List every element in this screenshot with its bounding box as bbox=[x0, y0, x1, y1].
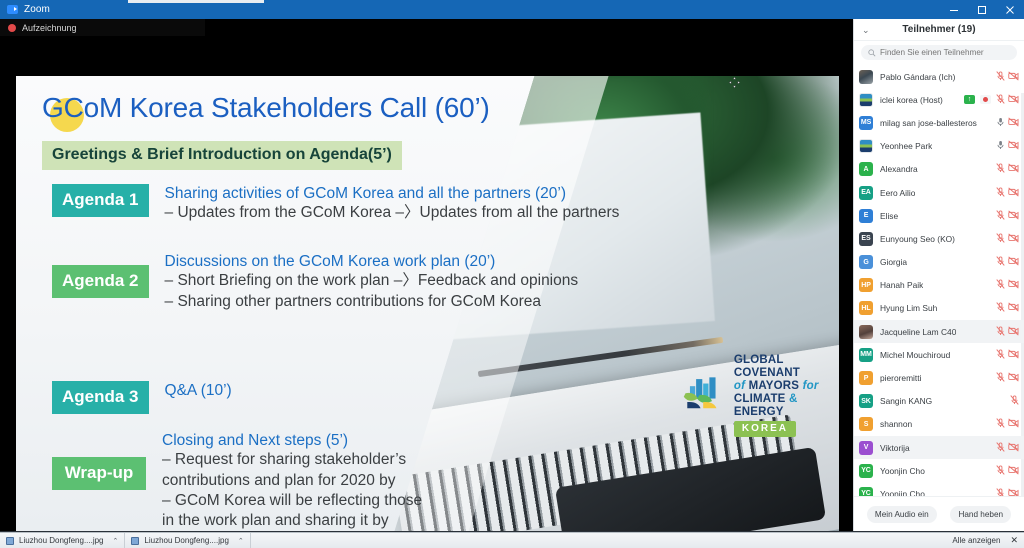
recording-label: Aufzeichnung bbox=[22, 23, 77, 33]
participant-row[interactable]: ESEunyoung Seo (KO) bbox=[854, 227, 1024, 250]
gcom-logo-amp: & bbox=[789, 393, 798, 405]
participants-search-wrap bbox=[854, 41, 1024, 65]
share-screen-badge-icon: ↑ bbox=[964, 95, 975, 104]
download-item[interactable]: Liuzhou Dongfeng....jpg ⌃ bbox=[0, 533, 125, 548]
gcom-logo-energy: ENERGY bbox=[734, 406, 784, 418]
raise-hand-button[interactable]: Hand heben bbox=[950, 506, 1011, 523]
avatar: MS bbox=[859, 116, 873, 130]
video-off-icon[interactable] bbox=[1008, 439, 1019, 457]
agenda-line-4-2: – GCoM Korea will be reflecting those bbox=[162, 491, 422, 511]
recording-indicator[interactable]: Aufzeichnung bbox=[0, 19, 205, 36]
agenda-row-3: Agenda 3 Q&A (10’) bbox=[52, 381, 232, 414]
agenda-line-1-0: – Updates from the GCoM Korea –〉Updates … bbox=[165, 203, 620, 223]
agenda-head-3: Q&A (10’) bbox=[165, 381, 232, 400]
gcom-logo-line3: CLIMATE & ENERGY bbox=[734, 393, 839, 419]
participant-name: Jacqueline Lam C40 bbox=[880, 327, 956, 337]
slide-greeting-banner: Greetings & Brief Introduction on Agenda… bbox=[42, 141, 402, 170]
microphone-muted-icon[interactable] bbox=[996, 91, 1005, 109]
maximize-icon[interactable] bbox=[968, 0, 996, 19]
avatar: E bbox=[859, 209, 873, 223]
microphone-muted-icon[interactable] bbox=[996, 68, 1005, 86]
video-off-icon[interactable] bbox=[1008, 91, 1019, 109]
avatar: ES bbox=[859, 232, 873, 246]
video-off-icon[interactable] bbox=[1008, 207, 1019, 225]
microphone-muted-icon[interactable] bbox=[996, 184, 1005, 202]
presentation-slide: GCoM Korea Stakeholders Call (60’) Greet… bbox=[16, 76, 839, 531]
participant-status-icons bbox=[996, 323, 1019, 341]
participants-header: ⌄ Teilnehmer (19) bbox=[854, 19, 1024, 41]
participants-footer: Mein Audio ein Hand heben bbox=[854, 496, 1024, 532]
agenda-head-4: Closing and Next steps (5’) bbox=[162, 431, 422, 450]
video-off-icon[interactable] bbox=[1008, 485, 1019, 496]
participant-row[interactable]: Ppieroremitti bbox=[854, 366, 1024, 389]
agenda-line-4-1: contributions and plan for 2020 by bbox=[162, 471, 422, 491]
participant-row[interactable]: MMMichel Mouchiroud bbox=[854, 343, 1024, 366]
zoom-window: Aufzeichnung bbox=[0, 19, 1024, 532]
agenda-chip-4: Wrap-up bbox=[52, 457, 146, 490]
microphone-muted-icon[interactable] bbox=[996, 207, 1005, 225]
participant-name: Eunyoung Seo (KO) bbox=[880, 234, 955, 244]
participant-name: pieroremitti bbox=[880, 373, 921, 383]
download-filename: Liuzhou Dongfeng....jpg bbox=[144, 536, 229, 545]
participant-status-icons bbox=[996, 276, 1019, 294]
microphone-muted-icon[interactable] bbox=[996, 253, 1005, 271]
participant-name: Michel Mouchiroud bbox=[880, 350, 950, 360]
video-off-icon[interactable] bbox=[1008, 323, 1019, 341]
show-all-downloads-link[interactable]: Alle anzeigen bbox=[952, 536, 1000, 545]
video-off-icon[interactable] bbox=[1008, 253, 1019, 271]
participant-name: Eero Ailio bbox=[880, 188, 915, 198]
agenda-row-2: Agenda 2 Discussions on the GCoM Korea w… bbox=[52, 252, 578, 312]
agenda-line-2-1: – Sharing other partners contributions f… bbox=[165, 292, 579, 312]
microphone-muted-icon[interactable] bbox=[996, 369, 1005, 387]
close-download-bar-icon[interactable]: ✕ bbox=[1010, 535, 1018, 546]
video-off-icon[interactable] bbox=[1008, 114, 1019, 132]
participant-name: Yoonjin Cho bbox=[880, 466, 925, 476]
gcom-logo-for: for bbox=[803, 380, 819, 392]
close-icon[interactable] bbox=[996, 0, 1024, 19]
participant-row[interactable]: Yeonhee Park bbox=[854, 135, 1024, 158]
participant-name: Viktorija bbox=[880, 443, 910, 453]
gcom-logo-line2: of MAYORS for bbox=[734, 380, 839, 393]
shared-screen-stage: GCoM Korea Stakeholders Call (60’) Greet… bbox=[0, 36, 853, 532]
participant-status-icons: ↑ bbox=[964, 91, 1019, 109]
participant-row[interactable]: Sshannon bbox=[854, 413, 1024, 436]
zoom-app-icon bbox=[7, 5, 18, 14]
avatar: YC bbox=[859, 487, 873, 496]
download-item[interactable]: Liuzhou Dongfeng....jpg ⌃ bbox=[125, 533, 250, 548]
gcom-logo-mayors: MAYORS bbox=[749, 380, 800, 392]
participant-status-icons bbox=[996, 299, 1019, 317]
participant-status-icons bbox=[996, 485, 1019, 496]
participant-name: Pablo Gándara (Ich) bbox=[880, 72, 955, 82]
participant-status-icons bbox=[996, 346, 1019, 364]
microphone-muted-icon[interactable] bbox=[996, 299, 1005, 317]
participant-status-icons bbox=[996, 439, 1019, 457]
participant-row[interactable]: HPHanah Paik bbox=[854, 274, 1024, 297]
participant-name: Yeonhee Park bbox=[880, 141, 932, 151]
video-off-icon[interactable] bbox=[1008, 369, 1019, 387]
agenda-body-1: Sharing activities of GCoM Korea and all… bbox=[165, 184, 620, 224]
video-off-icon[interactable] bbox=[1008, 415, 1019, 433]
microphone-on-icon[interactable] bbox=[996, 114, 1005, 132]
chevron-up-icon[interactable]: ⌃ bbox=[113, 537, 119, 545]
gcom-logo-line1: GLOBAL COVENANT bbox=[734, 354, 839, 380]
agenda-body-3: Q&A (10’) bbox=[165, 381, 232, 400]
participant-row[interactable]: VViktorija bbox=[854, 436, 1024, 459]
participant-name: Hyung Lim Suh bbox=[880, 303, 937, 313]
microphone-muted-icon[interactable] bbox=[996, 415, 1005, 433]
participant-row[interactable]: HLHyung Lim Suh bbox=[854, 297, 1024, 320]
avatar bbox=[859, 70, 873, 84]
participant-name: Giorgia bbox=[880, 257, 907, 267]
avatar: S bbox=[859, 417, 873, 431]
minimize-icon[interactable] bbox=[940, 0, 968, 19]
video-off-icon[interactable] bbox=[1008, 160, 1019, 178]
unmute-audio-button[interactable]: Mein Audio ein bbox=[867, 506, 937, 523]
agenda-row-4: Wrap-up Closing and Next steps (5’) – Re… bbox=[52, 431, 422, 531]
titlebar-highlight-strip bbox=[128, 0, 264, 3]
microphone-muted-icon[interactable] bbox=[996, 485, 1005, 496]
gcom-logo: GLOBAL COVENANT of MAYORS for CLIMATE & … bbox=[682, 354, 839, 437]
participant-name: milag san jose-ballesteros bbox=[880, 118, 977, 128]
avatar: P bbox=[859, 371, 873, 385]
agenda-body-4: Closing and Next steps (5’) – Request fo… bbox=[162, 431, 422, 531]
microphone-muted-icon[interactable] bbox=[996, 160, 1005, 178]
mouse-cursor-icon bbox=[729, 77, 740, 88]
agenda-chip-2: Agenda 2 bbox=[52, 265, 149, 298]
video-off-icon[interactable] bbox=[1008, 276, 1019, 294]
window-titlebar: Zoom bbox=[0, 0, 1024, 19]
participant-name: iclei korea (Host) bbox=[880, 95, 943, 105]
avatar: SK bbox=[859, 394, 873, 408]
participant-row[interactable]: EElise bbox=[854, 204, 1024, 227]
agenda-head-2: Discussions on the GCoM Korea work plan … bbox=[165, 252, 579, 271]
avatar: HP bbox=[859, 278, 873, 292]
recording-dot-icon bbox=[8, 24, 16, 32]
avatar bbox=[859, 139, 873, 153]
download-bar: Liuzhou Dongfeng....jpg ⌃ Liuzhou Dongfe… bbox=[0, 532, 1024, 548]
participant-row[interactable]: SKSangin KANG bbox=[854, 390, 1024, 413]
participant-status-icons bbox=[996, 68, 1019, 86]
agenda-row-1: Agenda 1 Sharing activities of GCoM Kore… bbox=[52, 184, 619, 224]
search-input[interactable] bbox=[880, 48, 1010, 57]
participant-name: Elise bbox=[880, 211, 898, 221]
microphone-muted-icon[interactable] bbox=[996, 323, 1005, 341]
avatar: HL bbox=[859, 301, 873, 315]
gcom-logo-country-badge: KOREA bbox=[734, 421, 796, 436]
slide-content: GCoM Korea Stakeholders Call (60’) Greet… bbox=[16, 76, 839, 531]
video-off-icon[interactable] bbox=[1008, 137, 1019, 155]
download-filename: Liuzhou Dongfeng....jpg bbox=[19, 536, 104, 545]
participant-status-icons bbox=[996, 462, 1019, 480]
participant-status-icons bbox=[996, 207, 1019, 225]
avatar: YC bbox=[859, 464, 873, 478]
participant-status-icons bbox=[996, 415, 1019, 433]
recording-badge-icon bbox=[980, 95, 991, 104]
video-off-icon[interactable] bbox=[1008, 68, 1019, 86]
window-title: Zoom bbox=[24, 4, 50, 15]
participant-row[interactable]: GGiorgia bbox=[854, 251, 1024, 274]
participant-status-icons bbox=[996, 369, 1019, 387]
participants-list[interactable]: Pablo Gándara (Ich)iclei korea (Host)↑MS… bbox=[854, 65, 1024, 496]
window-controls bbox=[940, 0, 1024, 19]
microphone-muted-icon[interactable] bbox=[1010, 392, 1019, 410]
download-bar-right: Alle anzeigen ✕ bbox=[952, 535, 1024, 546]
avatar bbox=[859, 93, 873, 107]
participant-row[interactable]: iclei korea (Host)↑ bbox=[854, 88, 1024, 111]
search-icon bbox=[868, 49, 876, 57]
participant-row[interactable]: YCYoonjin Cho bbox=[854, 482, 1024, 496]
participant-row[interactable]: YCYoonjin Cho bbox=[854, 459, 1024, 482]
participant-row[interactable]: Pablo Gándara (Ich) bbox=[854, 65, 1024, 88]
participant-status-icons bbox=[996, 253, 1019, 271]
gcom-logo-mark-icon bbox=[682, 373, 728, 417]
image-file-icon bbox=[6, 537, 14, 545]
participant-name: shannon bbox=[880, 419, 912, 429]
participant-status-icons bbox=[1010, 392, 1019, 410]
agenda-body-2: Discussions on the GCoM Korea work plan … bbox=[165, 252, 579, 312]
video-off-icon[interactable] bbox=[1008, 346, 1019, 364]
agenda-line-4-0: – Request for sharing stakeholder’s bbox=[162, 450, 422, 470]
agenda-head-1: Sharing activities of GCoM Korea and all… bbox=[165, 184, 620, 203]
gcom-logo-of: of bbox=[734, 380, 745, 392]
agenda-chip-3: Agenda 3 bbox=[52, 381, 149, 414]
microphone-on-icon[interactable] bbox=[996, 137, 1005, 155]
video-off-icon[interactable] bbox=[1008, 299, 1019, 317]
chevron-up-icon[interactable]: ⌃ bbox=[238, 537, 244, 545]
participant-status-icons bbox=[996, 230, 1019, 248]
participant-status-icons bbox=[996, 160, 1019, 178]
participant-row[interactable]: MSmilag san jose-ballesteros bbox=[854, 111, 1024, 134]
agenda-line-4-3: in the work plan and sharing it by bbox=[162, 511, 422, 531]
participant-status-icons bbox=[996, 114, 1019, 132]
video-off-icon[interactable] bbox=[1008, 230, 1019, 248]
video-off-icon[interactable] bbox=[1008, 462, 1019, 480]
microphone-muted-icon[interactable] bbox=[996, 462, 1005, 480]
agenda-line-2-0: – Short Briefing on the work plan –〉Feed… bbox=[165, 271, 579, 291]
avatar: A bbox=[859, 162, 873, 176]
participant-row[interactable]: Jacqueline Lam C40 bbox=[854, 320, 1024, 343]
avatar: MM bbox=[859, 348, 873, 362]
participant-status-icons bbox=[996, 184, 1019, 202]
microphone-muted-icon[interactable] bbox=[996, 230, 1005, 248]
participant-name: Yoonjin Cho bbox=[880, 489, 925, 496]
microphone-muted-icon[interactable] bbox=[996, 276, 1005, 294]
participants-title: Teilnehmer (19) bbox=[854, 24, 1024, 35]
slide-title: GCoM Korea Stakeholders Call (60’) bbox=[42, 92, 490, 124]
image-file-icon bbox=[131, 537, 139, 545]
chevron-down-icon[interactable]: ⌄ bbox=[862, 26, 870, 35]
screen: Zoom Aufzeichnung bbox=[0, 0, 1024, 548]
participant-row[interactable]: AAlexandra bbox=[854, 158, 1024, 181]
avatar bbox=[859, 325, 873, 339]
agenda-chip-1: Agenda 1 bbox=[52, 184, 149, 217]
microphone-muted-icon[interactable] bbox=[996, 346, 1005, 364]
video-off-icon[interactable] bbox=[1008, 184, 1019, 202]
participant-name: Alexandra bbox=[880, 164, 918, 174]
microphone-muted-icon[interactable] bbox=[996, 439, 1005, 457]
participants-search[interactable] bbox=[861, 45, 1017, 60]
avatar: G bbox=[859, 255, 873, 269]
slide-title-wrap: GCoM Korea Stakeholders Call (60’) bbox=[42, 92, 490, 124]
gcom-logo-climate: CLIMATE bbox=[734, 393, 786, 405]
participant-status-icons bbox=[996, 137, 1019, 155]
participant-name: Sangin KANG bbox=[880, 396, 932, 406]
gcom-logo-text: GLOBAL COVENANT of MAYORS for CLIMATE & … bbox=[734, 354, 839, 437]
participant-name: Hanah Paik bbox=[880, 280, 923, 290]
participant-row[interactable]: EAEero Ailio bbox=[854, 181, 1024, 204]
avatar: V bbox=[859, 441, 873, 455]
avatar: EA bbox=[859, 186, 873, 200]
participants-panel: ⌄ Teilnehmer (19) Pablo Gándara (Ich)icl… bbox=[853, 19, 1024, 532]
